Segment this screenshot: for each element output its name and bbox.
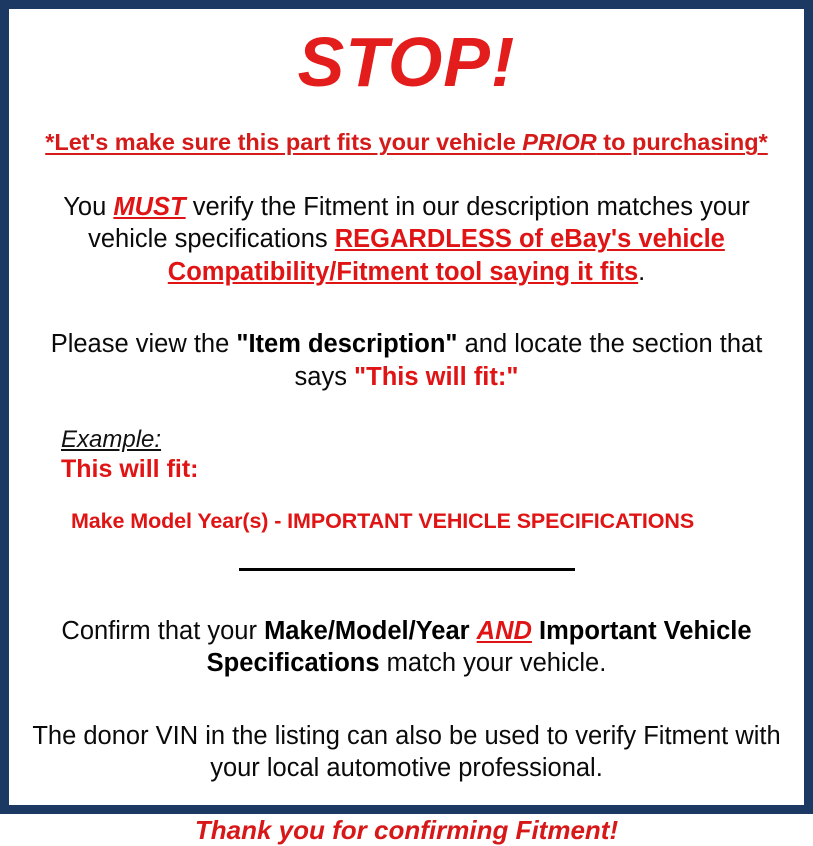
closing-thank-you: Thank you for confirming Fitment! [27,815,786,846]
must-seg-3: . [638,258,645,286]
divider-wrap [27,561,786,579]
fitment-notice-card: STOP! *Let's make sure this part fits yo… [0,0,813,814]
subtitle-text-tail: to purchasing* [597,129,768,155]
emphasis-item-description: "Item description" [236,330,457,358]
subtitle-banner: *Let's make sure this part fits your veh… [27,128,786,156]
emphasis-and: AND [477,617,532,645]
page-title: STOP! [27,27,786,98]
paragraph-must-verify: You MUST verify the Fitment in our descr… [27,191,786,289]
example-block: Example: This will fit: Make Model Year(… [27,426,786,534]
example-label: Example: [61,426,161,454]
subtitle-emphasis-prior: PRIOR [522,129,596,155]
notice-inner: STOP! *Let's make sure this part fits yo… [9,9,804,805]
example-spec-line: Make Model Year(s) - IMPORTANT VEHICLE S… [61,509,786,534]
subtitle-text-lead: *Let's make sure this part fits your veh… [45,129,522,155]
confirm-seg-4: match your vehicle. [380,649,607,677]
paragraph-view-description: Please view the "Item description" and l… [27,328,786,393]
paragraph-donor-vin: The donor VIN in the listing can also be… [27,720,786,785]
confirm-seg-1: Confirm that your [61,617,264,645]
emphasis-this-will-fit: "This will fit:" [354,363,518,391]
paragraph-confirm-match: Confirm that your Make/Model/Year AND Im… [27,615,786,680]
confirm-seg-2 [470,617,477,645]
view-seg-1: Please view the [51,330,237,358]
confirm-seg-3 [532,617,539,645]
must-seg-1: You [63,193,113,221]
emphasis-make-model-year: Make/Model/Year [264,617,470,645]
horizontal-rule-icon [239,568,575,571]
example-fit-header: This will fit: [61,455,786,485]
emphasis-must: MUST [113,193,185,221]
